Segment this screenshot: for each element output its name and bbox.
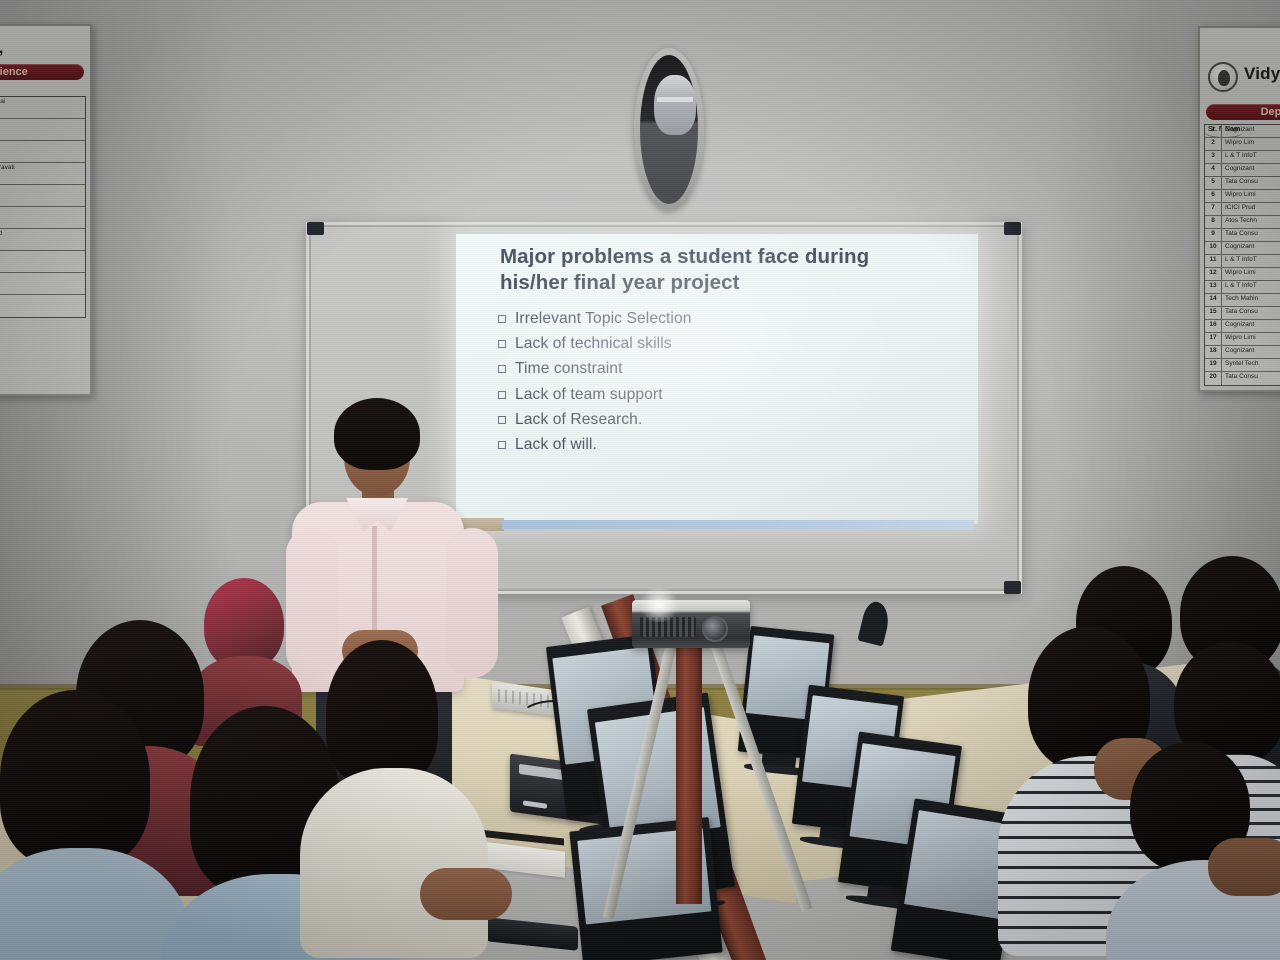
wall-light-fixture <box>634 48 704 211</box>
slide-title: Major problems a student face during his… <box>500 244 960 296</box>
cell: e Engg., Bangalore <box>0 207 85 228</box>
cell: oper, stem, Pune <box>0 185 85 206</box>
table-row: e Developer, Pune <box>0 141 85 163</box>
table-row: e Engg., Bangalore <box>0 207 85 229</box>
wall-poster-left: , Amravati's idyalaya, Science l signati… <box>0 24 92 396</box>
cell-company-name: Tata Consu <box>1222 372 1280 385</box>
cell-sr-no: 12 <box>1205 268 1222 280</box>
cell-company-name: Cognizant <box>1222 346 1280 358</box>
wall-poster-right: Vidy Depart Sr. No. Nam 1Cognizant 2Wipr… <box>1198 26 1280 392</box>
slide-divider-rule <box>502 520 974 529</box>
table-row: 20Tata Consu <box>1205 372 1280 385</box>
mobile-phone <box>486 917 578 951</box>
slide-bullet: Lack of Research. <box>498 411 966 430</box>
cell: ce, Amravati <box>0 273 85 294</box>
slide-title-line1: Major problems a student face during <box>500 244 960 270</box>
slide-bullet: Time constraint <box>498 360 966 379</box>
cell-company-name: L & T InfoT <box>1222 281 1280 293</box>
cell-sr-no: 5 <box>1205 177 1222 189</box>
whiteboard-clip-icon <box>307 222 324 235</box>
cell-company-name: Cognizant <box>1222 320 1280 332</box>
cell-company-name: Tech Mahin <box>1222 294 1280 306</box>
table-row: e Developer, umbai <box>0 119 85 141</box>
cell-company-name: Tata Consu <box>1222 177 1280 189</box>
cell-sr-no: 4 <box>1205 164 1222 176</box>
cell: e Engg., ipal Corp., Amravati <box>0 163 85 184</box>
projector-lamp-flare <box>636 588 682 622</box>
table-row: 8Atos Techn <box>1205 216 1280 229</box>
table-row: 3L & T InfoT <box>1205 151 1280 164</box>
table-row: 9Tata Consu <box>1205 229 1280 242</box>
poster-left-table: signation ger, gies Pvt Ltd, Mumbai e De… <box>0 96 86 318</box>
bullet-text: Lack of team support <box>515 386 663 405</box>
cell-company-name: Wipro Limi <box>1222 333 1280 345</box>
table-row: 11L & T InfoT <box>1205 255 1280 268</box>
table-row: e Developer, Hyderabad <box>0 229 85 251</box>
slide-bullet: Lack of will. <box>498 436 966 455</box>
table-row: 6Wipro Limi <box>1205 190 1280 203</box>
table-row: 5Tata Consu <box>1205 177 1280 190</box>
student-hair <box>326 640 438 786</box>
table-row: e Trainee, Amravati <box>0 295 85 317</box>
cell-sr-no: 6 <box>1205 190 1222 202</box>
institution-logo-icon <box>1208 62 1238 92</box>
student-dark-hair-blue-top <box>0 690 180 960</box>
table-header-row: Sr. No. Nam <box>1205 125 1243 138</box>
cell-company-name: ICICI Prud <box>1222 203 1280 215</box>
whiteboard-clip-icon <box>1004 222 1021 235</box>
table-row: 4Cognizant <box>1205 164 1280 177</box>
table-row: 13L & T InfoT <box>1205 281 1280 294</box>
bullet-square-icon <box>498 340 506 348</box>
fixture-glass <box>654 75 696 135</box>
poster-right-rows: 1Cognizant 2Wipro Lim3L & T InfoT4Cogniz… <box>1205 125 1280 385</box>
student-torso <box>300 768 488 958</box>
col-name: Nam <box>1222 125 1243 137</box>
projected-slide: Major problems a student face during his… <box>456 234 978 524</box>
cell: e Developer, Pune <box>0 141 85 162</box>
table-row: 18Cognizant <box>1205 346 1280 359</box>
table-row: 2Wipro Lim <box>1205 138 1280 151</box>
table-row: 15Tata Consu <box>1205 307 1280 320</box>
cell-sr-no: 19 <box>1205 359 1222 371</box>
bullet-text: Lack of technical skills <box>515 335 672 354</box>
table-row: 12Wipro Limi <box>1205 268 1280 281</box>
bullet-text: Lack of Research. <box>515 411 642 430</box>
cell-sr-no: 2 <box>1205 138 1222 150</box>
poster-left-pill: Science <box>0 64 84 80</box>
cell-sr-no: 3 <box>1205 151 1222 163</box>
student-white-printed-top <box>300 640 480 930</box>
poster-right-table: Sr. No. Nam 1Cognizant 2Wipro Lim3L & T … <box>1204 124 1280 386</box>
cell-company-name: Wipro Limi <box>1222 268 1280 280</box>
cell-company-name: Wipro Limi <box>1222 190 1280 202</box>
cell: e Trainee, Amravati <box>0 295 85 317</box>
bullet-square-icon <box>498 365 506 373</box>
fixture-inner <box>640 55 698 204</box>
bullet-square-icon <box>498 315 506 323</box>
table-row: oper, stem, Pune <box>0 185 85 207</box>
cell-sr-no: 17 <box>1205 333 1222 345</box>
cell-company-name: Wipro Lim <box>1222 138 1280 150</box>
cell: e Consultant, Pune <box>0 251 85 272</box>
cell-company-name: Syntel Tech <box>1222 359 1280 371</box>
table-row: 10Cognizant <box>1205 242 1280 255</box>
cell-sr-no: 20 <box>1205 372 1222 385</box>
table-row: e Engg., ipal Corp., Amravati <box>0 163 85 185</box>
bullet-text: Time constraint <box>515 360 623 379</box>
slide-bullet: Irrelevant Topic Selection <box>498 310 966 329</box>
col-sr-no: Sr. No. <box>1205 125 1222 137</box>
cell-sr-no: 8 <box>1205 216 1222 228</box>
poster-left-title: idyalaya, <box>0 36 90 60</box>
student-hair <box>0 690 150 866</box>
student-light-blue-shirt <box>1116 742 1280 960</box>
table-row: 14Tech Mahin <box>1205 294 1280 307</box>
cell: e Developer, umbai <box>0 119 85 140</box>
table-row: 17Wipro Limi <box>1205 333 1280 346</box>
cell-sr-no: 15 <box>1205 307 1222 319</box>
cell: e Developer, Hyderabad <box>0 229 85 250</box>
table-row: e Consultant, Pune <box>0 251 85 273</box>
cell-sr-no: 14 <box>1205 294 1222 306</box>
cell-sr-no: 9 <box>1205 229 1222 241</box>
stand-post <box>676 614 702 904</box>
bullet-text: Lack of will. <box>515 436 597 455</box>
cell-sr-no: 18 <box>1205 346 1222 358</box>
poster-left-sub: l <box>0 84 90 93</box>
student-arm <box>1208 838 1280 896</box>
whiteboard-clip-icon <box>1004 581 1021 594</box>
cell-sr-no: 11 <box>1205 255 1222 267</box>
student-arm <box>420 868 512 920</box>
classroom-photo: , Amravati's idyalaya, Science l signati… <box>0 0 1280 960</box>
projector-stand <box>630 600 750 900</box>
poster-right-pill: Depart <box>1206 104 1280 120</box>
table-row: 7ICICI Prud <box>1205 203 1280 216</box>
cell-sr-no: 7 <box>1205 203 1222 215</box>
table-row: 16Cognizant <box>1205 320 1280 333</box>
cell-company-name: Cognizant <box>1222 242 1280 254</box>
cell: ger, gies Pvt Ltd, Mumbai <box>0 97 85 118</box>
cell-company-name: L & T InfoT <box>1222 255 1280 267</box>
cell-company-name: Atos Techn <box>1222 216 1280 228</box>
cell-company-name: Tata Consu <box>1222 307 1280 319</box>
cell-company-name: Cognizant <box>1222 164 1280 176</box>
cell-sr-no: 16 <box>1205 320 1222 332</box>
cell-company-name: Tata Consu <box>1222 229 1280 241</box>
cpu-power-button <box>523 800 547 809</box>
slide-title-line2: his/her final year project <box>500 270 960 296</box>
table-row: 19Syntel Tech <box>1205 359 1280 372</box>
projector-lens-icon <box>702 616 728 642</box>
table-row: ger, gies Pvt Ltd, Mumbai <box>0 97 85 119</box>
slide-bullet-list: Irrelevant Topic SelectionLack of techni… <box>498 310 966 461</box>
student-torso <box>0 848 190 960</box>
slide-bullet: Lack of team support <box>498 386 966 405</box>
poster-left-pretitle: , Amravati's <box>0 26 90 36</box>
presenter-hair <box>334 398 420 470</box>
cell-company-name: L & T InfoT <box>1222 151 1280 163</box>
cell-sr-no: 13 <box>1205 281 1222 293</box>
cell-sr-no: 10 <box>1205 242 1222 254</box>
bullet-text: Irrelevant Topic Selection <box>515 310 692 329</box>
table-row: ce, Amravati <box>0 273 85 295</box>
slide-bullet: Lack of technical skills <box>498 335 966 354</box>
